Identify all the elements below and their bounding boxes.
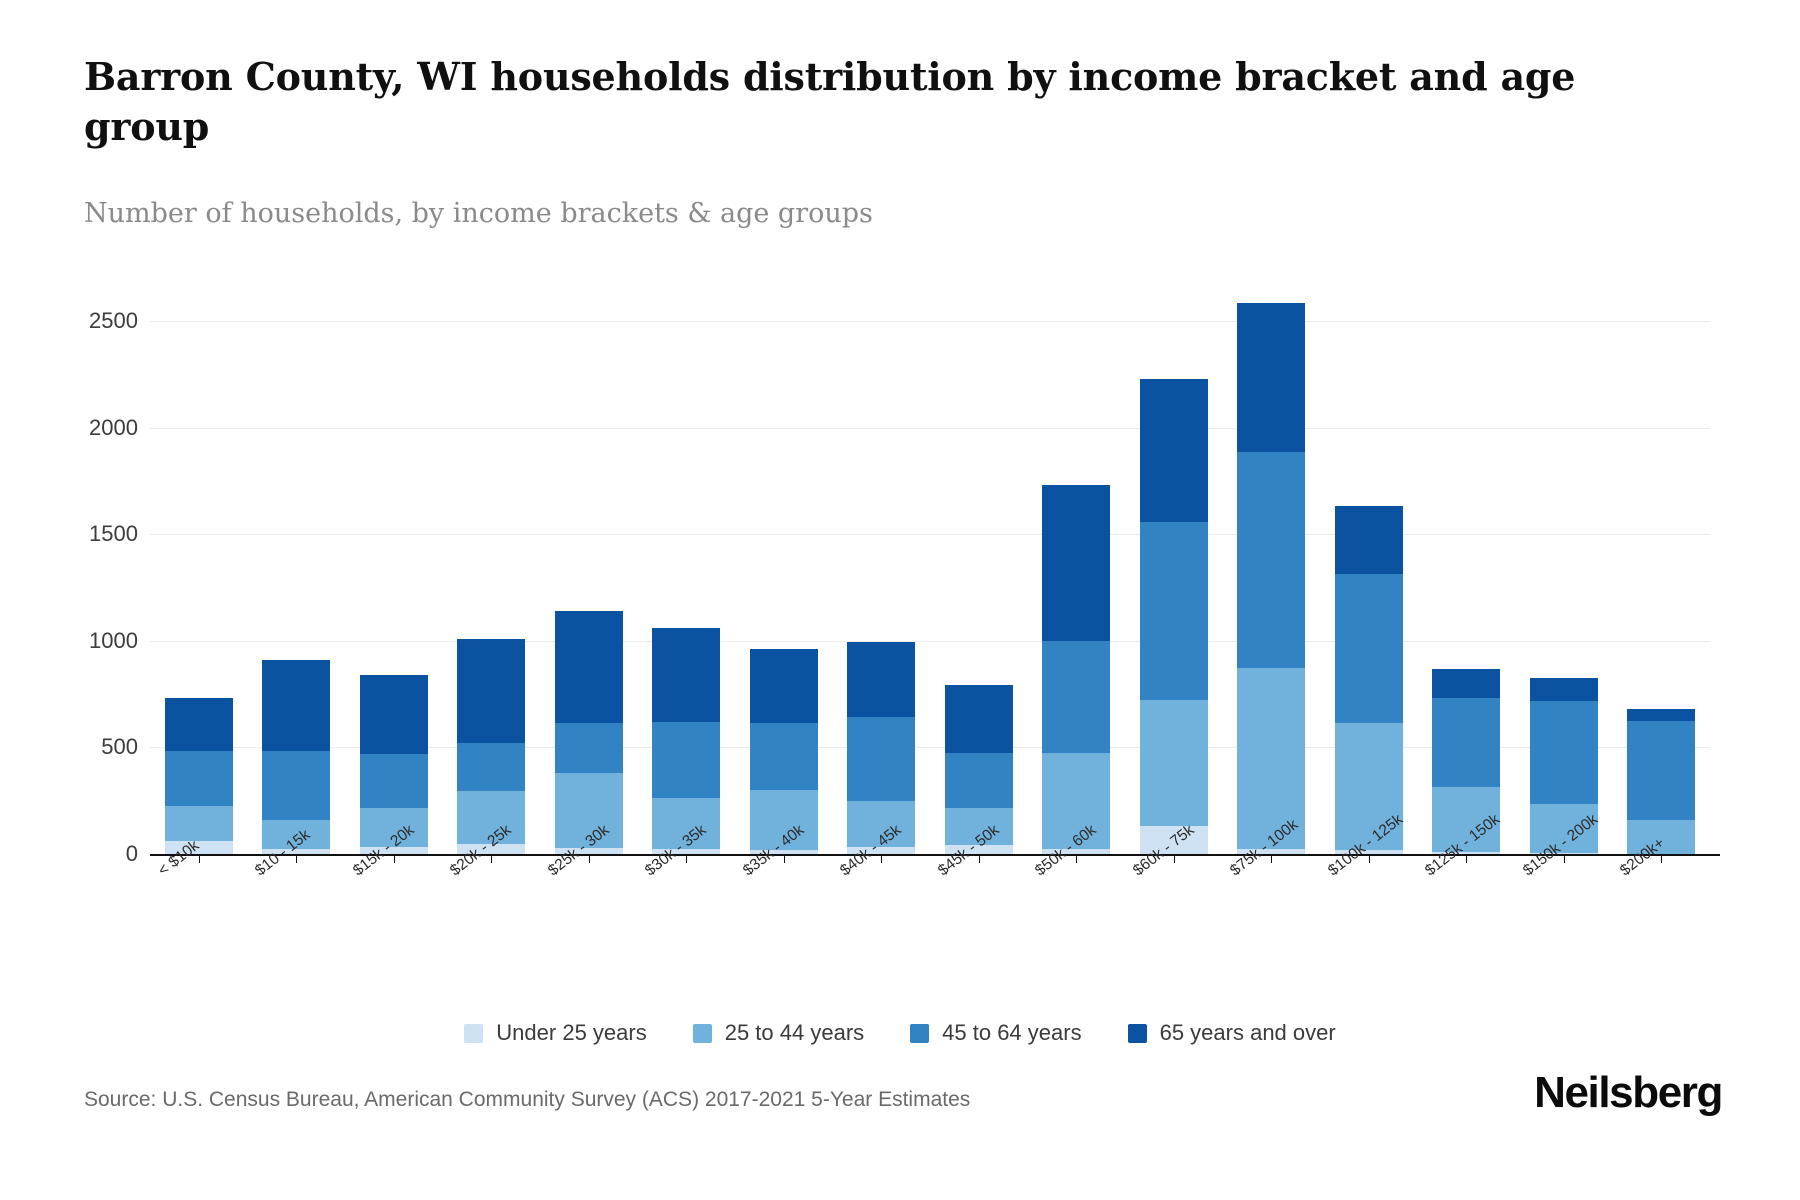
x-axis-tickmark bbox=[1564, 854, 1565, 863]
legend-swatch-icon bbox=[693, 1024, 712, 1043]
x-axis-tickmark bbox=[394, 854, 395, 863]
bar-segment[interactable] bbox=[1432, 698, 1500, 786]
bar-stack[interactable] bbox=[847, 642, 915, 854]
bar-segment[interactable] bbox=[1042, 485, 1110, 641]
y-axis-tick-label: 500 bbox=[101, 734, 138, 760]
bar-segment[interactable] bbox=[1335, 506, 1403, 574]
x-axis-tickmark bbox=[1174, 854, 1175, 863]
bar-segment[interactable] bbox=[457, 743, 525, 791]
bar-segment[interactable] bbox=[262, 751, 330, 820]
bar-stack[interactable] bbox=[555, 611, 623, 854]
bar-segment[interactable] bbox=[262, 660, 330, 751]
legend-item-label: 45 to 64 years bbox=[942, 1020, 1081, 1046]
chart-legend: Under 25 years25 to 44 years45 to 64 yea… bbox=[0, 1020, 1800, 1046]
x-axis-tickmark bbox=[296, 854, 297, 863]
bar-segment[interactable] bbox=[555, 723, 623, 773]
x-axis-tickmark bbox=[686, 854, 687, 863]
bar-segment[interactable] bbox=[652, 628, 720, 722]
bar-stack[interactable] bbox=[360, 675, 428, 854]
bar-segment[interactable] bbox=[847, 717, 915, 801]
bar-stack[interactable] bbox=[945, 685, 1013, 854]
plot-area: 05001000150020002500 < $10k$10 - 15k$15k… bbox=[150, 300, 1710, 854]
x-axis-tickmark bbox=[589, 854, 590, 863]
legend-item-label: Under 25 years bbox=[496, 1020, 646, 1046]
bar-segment[interactable] bbox=[457, 639, 525, 743]
bar-segment[interactable] bbox=[360, 675, 428, 754]
chart-page: Barron County, WI households distributio… bbox=[0, 0, 1800, 1200]
bar-stack[interactable] bbox=[750, 649, 818, 854]
y-axis-tick-label: 2000 bbox=[89, 415, 138, 441]
bar-segment[interactable] bbox=[1530, 678, 1598, 700]
x-axis-tickmark bbox=[1661, 854, 1662, 863]
x-axis-tickmark bbox=[784, 854, 785, 863]
bar-stack[interactable] bbox=[652, 628, 720, 854]
bar-stack[interactable] bbox=[165, 698, 233, 854]
brand-logo: Neilsberg bbox=[1534, 1068, 1722, 1118]
bar-segment[interactable] bbox=[750, 723, 818, 790]
bar-segment[interactable] bbox=[847, 642, 915, 717]
x-axis-tickmark bbox=[1076, 854, 1077, 863]
x-axis-tickmark bbox=[1369, 854, 1370, 863]
bar-stack[interactable] bbox=[262, 660, 330, 854]
x-axis-tickmark bbox=[881, 854, 882, 863]
source-note: Source: U.S. Census Bureau, American Com… bbox=[84, 1088, 970, 1112]
legend-item[interactable]: 45 to 64 years bbox=[910, 1020, 1081, 1046]
bar-segment[interactable] bbox=[652, 722, 720, 798]
x-axis-tickmark bbox=[491, 854, 492, 863]
bar-stack[interactable] bbox=[1237, 303, 1305, 854]
bar-segment[interactable] bbox=[1432, 669, 1500, 699]
y-axis-tick-label: 0 bbox=[126, 841, 138, 867]
x-axis-tickmark bbox=[979, 854, 980, 863]
bar-segment[interactable] bbox=[1530, 701, 1598, 804]
bar-segment[interactable] bbox=[1335, 574, 1403, 723]
bar-segment[interactable] bbox=[165, 806, 233, 841]
bar-segment[interactable] bbox=[165, 751, 233, 806]
y-axis-tick-label: 1500 bbox=[89, 521, 138, 547]
x-axis-tickmark bbox=[1271, 854, 1272, 863]
bar-stack[interactable] bbox=[1042, 485, 1110, 854]
bar-stack[interactable] bbox=[457, 639, 525, 854]
bar-stack[interactable] bbox=[1140, 379, 1208, 854]
page-title: Barron County, WI households distributio… bbox=[84, 52, 1644, 152]
bar-segment[interactable] bbox=[1042, 641, 1110, 753]
legend-swatch-icon bbox=[910, 1024, 929, 1043]
bar-segment[interactable] bbox=[165, 698, 233, 750]
bar-segment[interactable] bbox=[1627, 709, 1695, 721]
page-subtitle: Number of households, by income brackets… bbox=[84, 198, 1484, 229]
x-axis-tickmark bbox=[199, 854, 200, 863]
bar-segment[interactable] bbox=[1140, 700, 1208, 827]
bar-segment[interactable] bbox=[1140, 379, 1208, 522]
bar-segment[interactable] bbox=[750, 649, 818, 723]
bar-stack[interactable] bbox=[1335, 506, 1403, 854]
bar-segment[interactable] bbox=[1140, 522, 1208, 700]
legend-item-label: 65 years and over bbox=[1160, 1020, 1336, 1046]
bar-segment[interactable] bbox=[360, 754, 428, 808]
legend-item[interactable]: 65 years and over bbox=[1128, 1020, 1336, 1046]
legend-swatch-icon bbox=[464, 1024, 483, 1043]
bar-segment[interactable] bbox=[1237, 452, 1305, 667]
bar-segment[interactable] bbox=[1627, 721, 1695, 820]
x-axis-tickmark bbox=[1466, 854, 1467, 863]
legend-item-label: 25 to 44 years bbox=[725, 1020, 864, 1046]
bar-segment[interactable] bbox=[555, 611, 623, 723]
legend-item[interactable]: Under 25 years bbox=[464, 1020, 646, 1046]
bar-segment[interactable] bbox=[945, 685, 1013, 753]
legend-item[interactable]: 25 to 44 years bbox=[693, 1020, 864, 1046]
bar-series-layer bbox=[150, 300, 1710, 854]
legend-swatch-icon bbox=[1128, 1024, 1147, 1043]
bar-stack[interactable] bbox=[1627, 709, 1695, 854]
y-axis-tick-label: 2500 bbox=[89, 308, 138, 334]
bar-segment[interactable] bbox=[945, 753, 1013, 808]
bar-segment[interactable] bbox=[1237, 303, 1305, 452]
y-axis-tick-label: 1000 bbox=[89, 628, 138, 654]
